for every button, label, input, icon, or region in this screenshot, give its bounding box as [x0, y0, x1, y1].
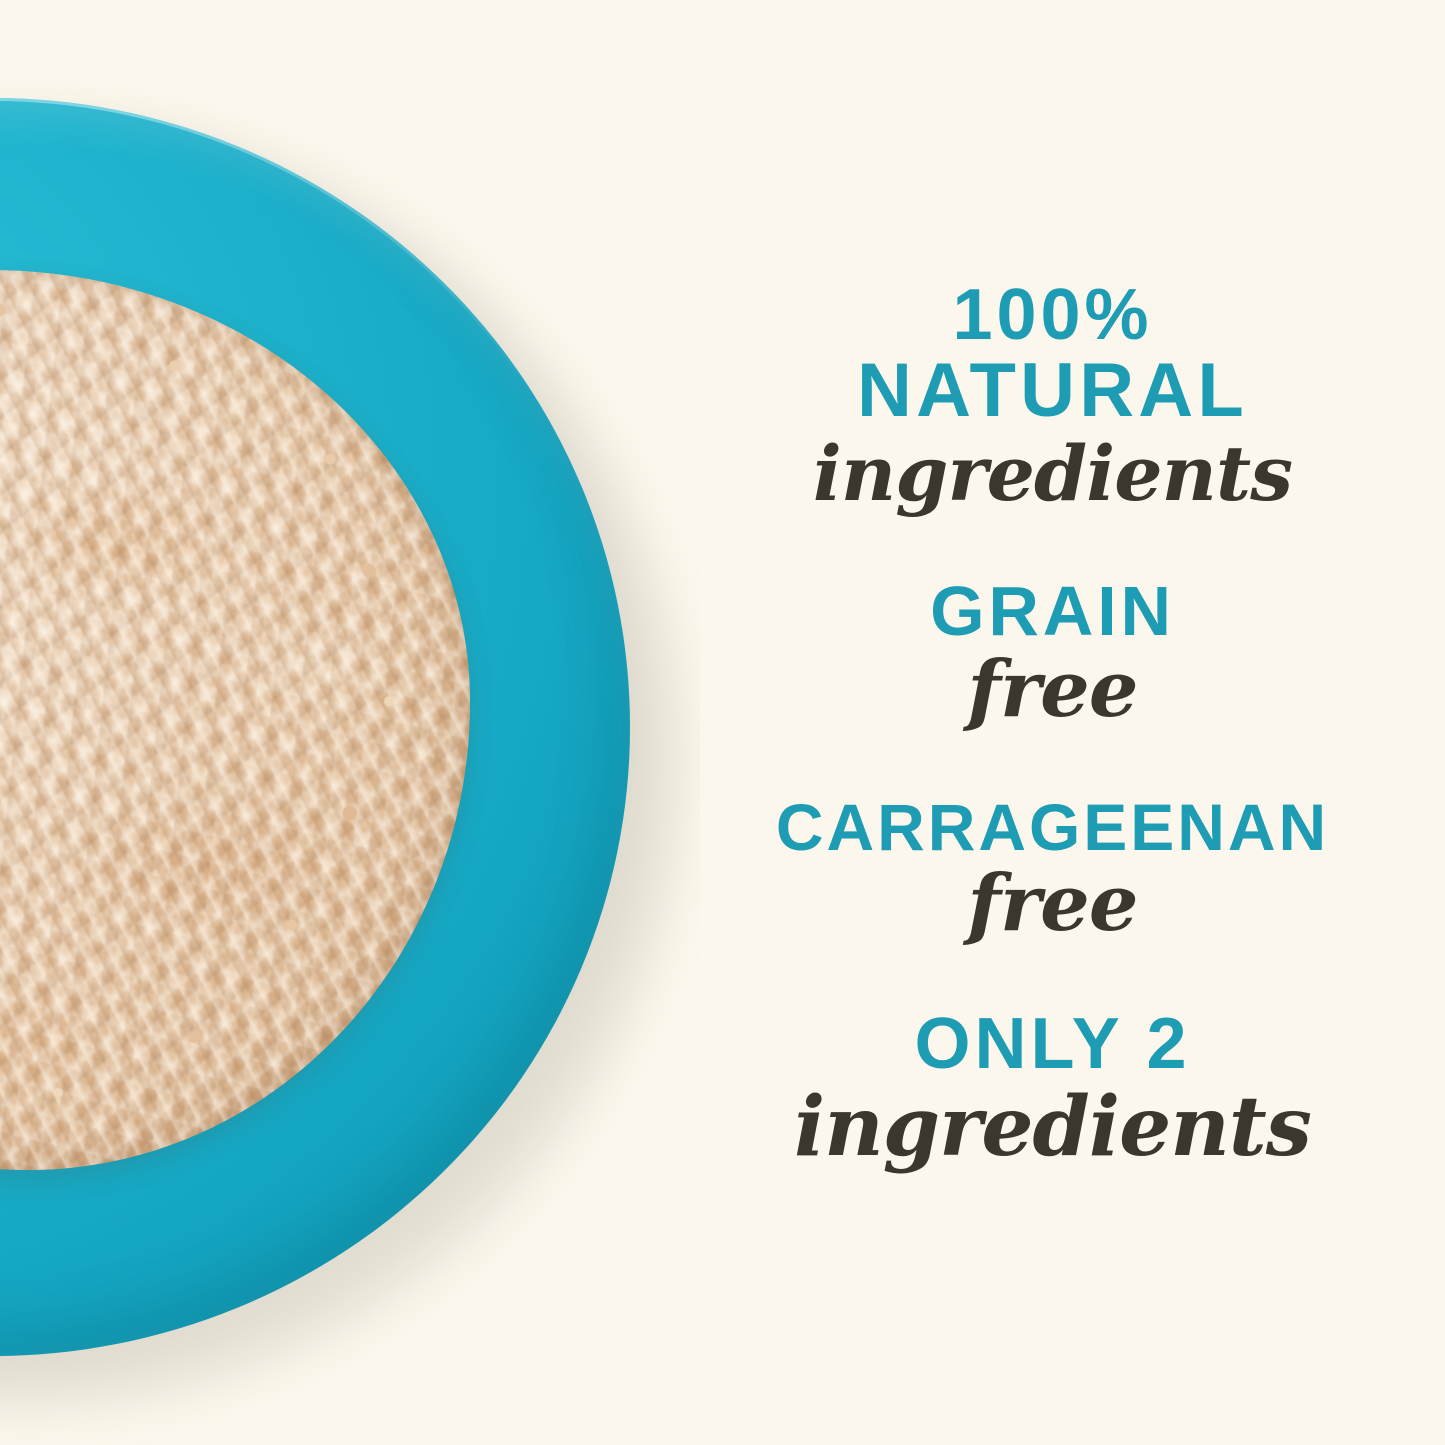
- claim-only-two-ingredients: ONLY 2 ingredients: [660, 1008, 1445, 1170]
- claim-carrageenan-line1: CARRAGEENAN: [660, 794, 1445, 861]
- claims-column: 100% NATURAL ingredients GRAIN free CARR…: [660, 0, 1445, 1445]
- claim-carrageenan-script: free: [660, 863, 1445, 946]
- claim-grain-script: free: [660, 649, 1445, 732]
- product-photo: [0, 0, 700, 1445]
- claim-grain-free: GRAIN free: [660, 576, 1445, 732]
- product-benefits-graphic: 100% NATURAL ingredients GRAIN free CARR…: [0, 0, 1445, 1445]
- claim-natural-ingredients: 100% NATURAL ingredients: [660, 279, 1445, 515]
- tuna-patty: [0, 270, 470, 1170]
- tuna-body: [0, 270, 470, 1170]
- claim-natural-script: ingredients: [660, 434, 1445, 515]
- claim-grain-line1: GRAIN: [660, 576, 1445, 647]
- claim-natural-line1: 100%: [660, 279, 1445, 352]
- claim-only2-script: ingredients: [660, 1084, 1445, 1171]
- claim-only2-line1: ONLY 2: [660, 1008, 1445, 1081]
- claim-natural-line2: NATURAL: [660, 352, 1445, 430]
- tuna-fiber-texture-secondary: [0, 270, 470, 1170]
- claim-carrageenan-free: CARRAGEENAN free: [660, 794, 1445, 946]
